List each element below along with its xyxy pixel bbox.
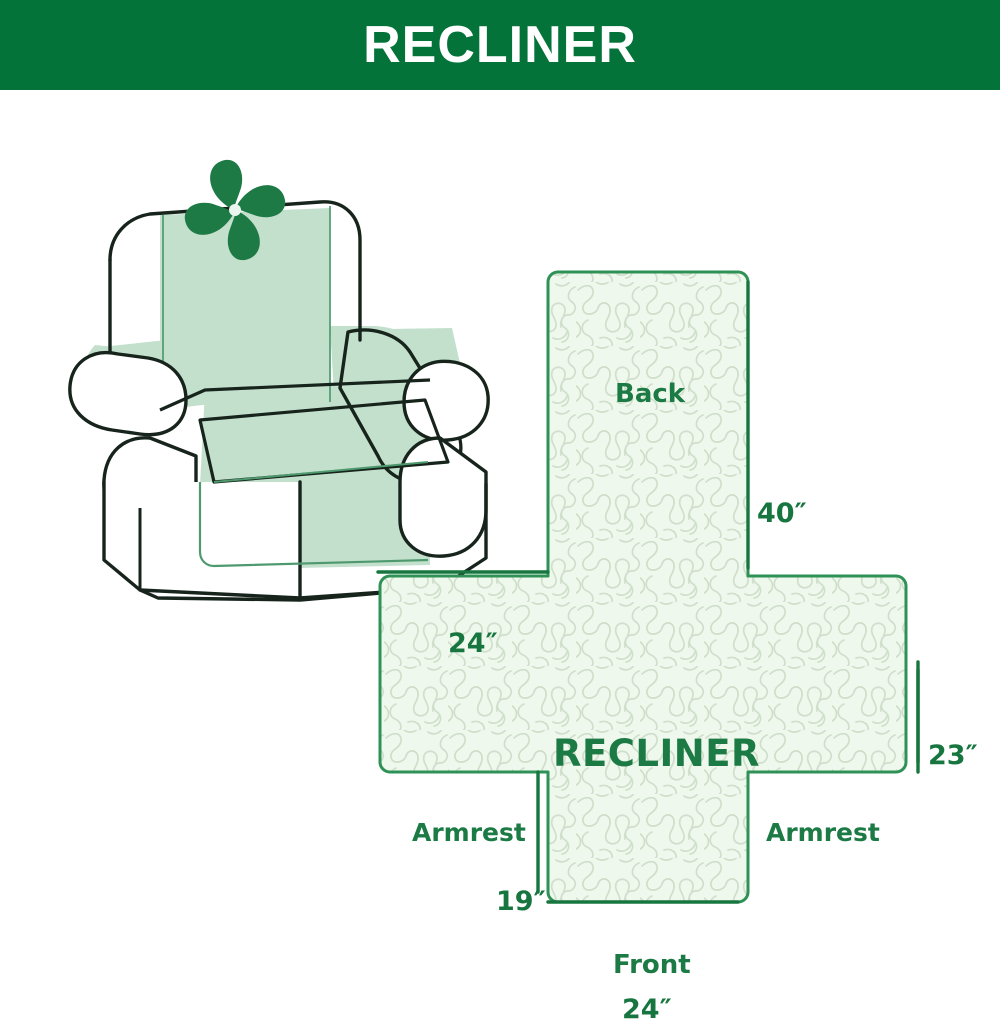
panel-label-front: Front [613, 952, 691, 978]
page-title: RECLINER [363, 19, 637, 71]
dimension-label-front-width: 24″ [622, 996, 672, 1023]
page-header: RECLINER [0, 0, 1000, 90]
panel-label-armrest-right: Armrest [766, 820, 880, 845]
diagram-center-label: RECLINER [553, 735, 760, 772]
recliner-chair-illustration [70, 160, 488, 600]
panel-label-armrest-left: Armrest [412, 820, 526, 845]
diagram-canvas [0, 90, 1000, 1000]
dimension-label-armrest-height: 23″ [928, 742, 978, 769]
dimension-label-back-height: 40″ [757, 500, 807, 527]
diagram-stage: Back RECLINER Armrest Armrest Front 40″ … [0, 90, 1000, 1000]
dimension-label-front-height: 19″ [496, 888, 546, 915]
dimension-label-armrest-width: 24″ [448, 630, 498, 657]
panel-label-back: Back [615, 381, 685, 407]
recliner-size-chart: RECLINER [0, 0, 1000, 1000]
